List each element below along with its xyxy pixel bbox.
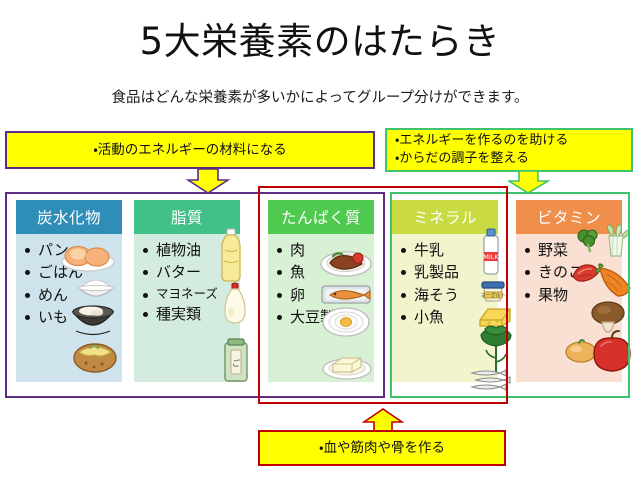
banner-energy-source-line-1: ・活動のエネルギーの材料になる (93, 141, 287, 159)
banner-energy-helper-line-1: ・エネルギーを作るのを助ける (395, 132, 631, 150)
arrow-down-right (508, 170, 550, 194)
banner-body-builder-line-1: ・血や筋肉や骨を作る (319, 439, 445, 457)
banner-energy-helper-line-2: ・からだの調子を整える (395, 150, 631, 168)
slide-canvas: 5大栄養素のはたらき 食品はどんな栄養素が多いかによってグループ分けができます。… (0, 0, 640, 480)
banner-energy-helper: ・エネルギーを作るのを助ける ・からだの調子を整える (385, 128, 633, 172)
page-title: 5大栄養素のはたらき (0, 22, 640, 63)
group-frame-red (258, 186, 508, 404)
arrow-down-left (186, 168, 230, 194)
banner-body-builder: ・血や筋肉や骨を作る (258, 430, 506, 466)
banner-energy-source: ・活動のエネルギーの材料になる (5, 131, 375, 169)
page-subtitle: 食品はどんな栄養素が多いかによってグループ分けができます。 (0, 86, 640, 107)
